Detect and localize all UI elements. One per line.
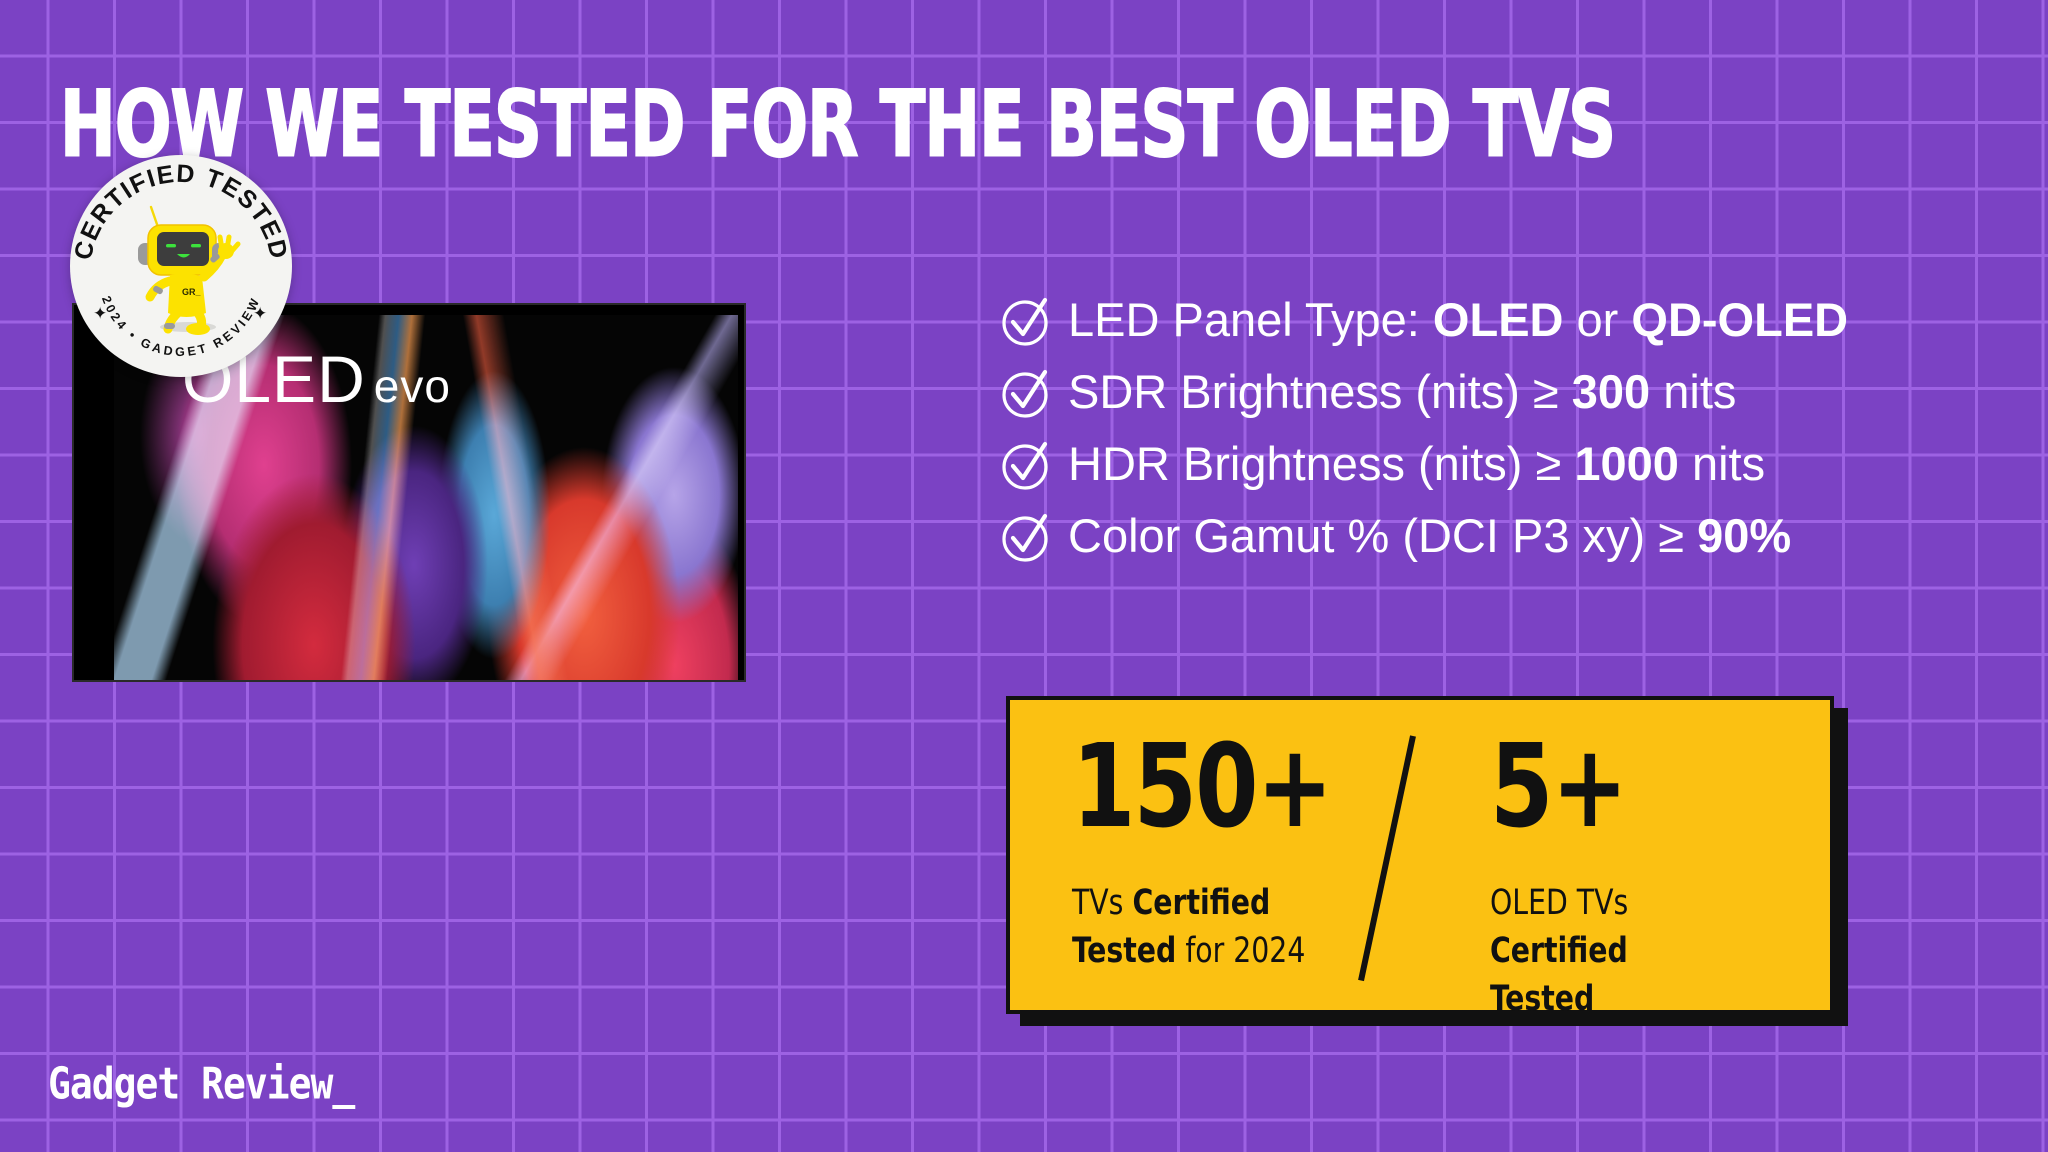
checklist-item-label: Color Gamut % (DCI P3 xy) ≥ 90%: [1068, 500, 1791, 572]
robot-mascot-icon: GR_: [124, 199, 242, 339]
stat-column-right: 5+ OLED TVs Certified Tested: [1360, 700, 1790, 1010]
checklist-item: SDR Brightness (nits) ≥ 300 nits: [1000, 356, 2020, 428]
stat-number-right: 5+: [1490, 730, 1754, 845]
stat-number-left: 150+: [1072, 730, 1325, 845]
checklist-item: LED Panel Type: OLED or QD-OLED: [1000, 284, 2020, 356]
checklist-item-label: SDR Brightness (nits) ≥ 300 nits: [1068, 356, 1736, 428]
certified-tested-badge: CERTIFIED TESTED 2024 • GADGET REVIEW ✦ …: [70, 155, 292, 377]
checklist-item: HDR Brightness (nits) ≥ 1000 nits: [1000, 428, 2020, 500]
check-circle-icon: [1000, 368, 1052, 420]
check-circle-icon: [1000, 296, 1052, 348]
gadget-review-logo: Gadget Review_: [48, 1058, 354, 1109]
check-circle-icon: [1000, 512, 1052, 564]
criteria-checklist: LED Panel Type: OLED or QD-OLED SDR Brig…: [1000, 284, 2020, 572]
stat-column-left: 150+ TVs Certified Tested for 2024: [1010, 700, 1360, 1010]
page-title: HOW WE TESTED FOR THE BEST OLED TVS: [60, 72, 1615, 178]
check-circle-icon: [1000, 440, 1052, 492]
checklist-item-label: HDR Brightness (nits) ≥ 1000 nits: [1068, 428, 1765, 500]
stat-caption-right: OLED TVs Certified Tested: [1490, 879, 1760, 1023]
checklist-item: Color Gamut % (DCI P3 xy) ≥ 90%: [1000, 500, 2020, 572]
star-icon: ✦: [253, 305, 267, 322]
stat-caption-left: TVs Certified Tested for 2024: [1072, 879, 1331, 975]
checklist-item-label: LED Panel Type: OLED or QD-OLED: [1068, 284, 1848, 356]
star-icon: ✦: [93, 305, 107, 322]
tv-oled-suffix: evo: [374, 360, 451, 412]
robot-chest-label: GR_: [182, 287, 202, 297]
stats-panel: 150+ TVs Certified Tested for 2024 5+ OL…: [1006, 696, 1834, 1014]
